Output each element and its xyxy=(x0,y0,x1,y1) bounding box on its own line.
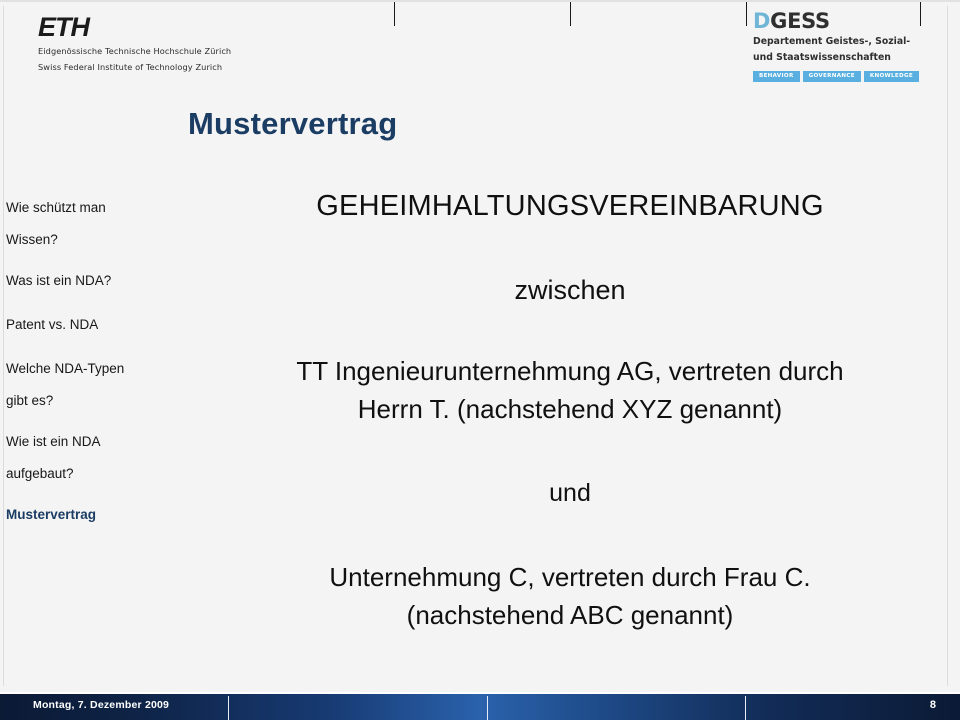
agenda-sidebar: Wie schützt man Wissen? Was ist ein NDA?… xyxy=(6,192,198,531)
top-edge-rule xyxy=(0,0,960,2)
left-margin-rule xyxy=(3,6,4,686)
contract-heading: GEHEIMHALTUNGSVEREINBARUNG xyxy=(200,185,940,227)
sidebar-item-label: Patent vs. NDA xyxy=(6,309,198,341)
contract-party-a-line-1: TT Ingenieurunternehmung AG, vertreten d… xyxy=(200,352,940,390)
slide-footer: Montag, 7. Dezember 2009 8 xyxy=(0,692,960,720)
contract-party-a: TT Ingenieurunternehmung AG, vertreten d… xyxy=(200,352,940,428)
footer-page-number: 8 xyxy=(930,699,936,711)
eth-logo: ETH Eidgenössische Technische Hochschule… xyxy=(38,14,231,73)
sidebar-item-welche-nda-typen[interactable]: Welche NDA-Typen gibt es? xyxy=(6,353,198,417)
contract-connector-und: und xyxy=(200,476,940,510)
contract-party-b: Unternehmung C, vertreten durch Frau C. … xyxy=(200,558,940,634)
sidebar-item-was-ist-ein-nda[interactable]: Was ist ein NDA? xyxy=(6,265,198,297)
sidebar-item-patent-vs-nda[interactable]: Patent vs. NDA xyxy=(6,309,198,341)
sidebar-item-label: Mustervertrag xyxy=(6,499,198,531)
slide-canvas: ETH Eidgenössische Technische Hochschule… xyxy=(0,0,960,720)
contract-party-b-line-2: (nachstehend ABC genannt) xyxy=(200,596,940,634)
sidebar-item-mustervertrag[interactable]: Mustervertrag xyxy=(6,499,198,531)
sidebar-item-label-cont: gibt es? xyxy=(6,385,198,417)
sidebar-item-label-cont: Wissen? xyxy=(6,224,198,256)
sidebar-item-label: Wie ist ein NDA xyxy=(6,426,198,458)
contract-party-b-line-1: Unternehmung C, vertreten durch Frau C. xyxy=(200,558,940,596)
sidebar-item-wie-schuetzt-man-wissen[interactable]: Wie schützt man Wissen? xyxy=(6,192,198,256)
sidebar-item-label: Welche NDA-Typen xyxy=(6,353,198,385)
footer-tick-mark-3 xyxy=(745,696,746,720)
eth-subtitle-de: Eidgenössische Technische Hochschule Zür… xyxy=(38,46,231,57)
footer-tick-mark-1 xyxy=(228,696,229,720)
dgess-badge-row: BEHAVIOR GOVERNANCE KNOWLEDGE xyxy=(753,71,919,82)
top-tick-mark-3 xyxy=(746,2,747,26)
top-tick-mark-4 xyxy=(920,2,921,26)
top-tick-mark-2 xyxy=(570,2,571,26)
dgess-logo: DGESS Departement Geistes-, Sozial- und … xyxy=(753,11,919,82)
contract-connector-zwischen: zwischen xyxy=(200,272,940,308)
sidebar-item-wie-ist-ein-nda-aufgebaut[interactable]: Wie ist ein NDA aufgebaut? xyxy=(6,426,198,490)
right-margin-rule xyxy=(947,6,948,686)
page-title: Mustervertrag xyxy=(188,106,397,142)
eth-subtitle-en: Swiss Federal Institute of Technology Zu… xyxy=(38,62,231,73)
footer-tick-mark-2 xyxy=(487,696,488,720)
top-tick-mark-1 xyxy=(394,2,395,26)
dgess-wordmark: DGESS xyxy=(753,11,919,32)
contract-body: GEHEIMHALTUNGSVEREINBARUNG zwischen TT I… xyxy=(200,185,940,634)
footer-date: Montag, 7. Dezember 2009 xyxy=(33,699,169,711)
badge-behavior: BEHAVIOR xyxy=(753,71,800,82)
badge-knowledge: KNOWLEDGE xyxy=(864,71,919,82)
dgess-subtitle-line-2: und Staatswissenschaften xyxy=(753,52,919,64)
dgess-letter-d: D xyxy=(753,9,770,33)
sidebar-item-label-cont: aufgebaut? xyxy=(6,458,198,490)
dgess-subtitle-line-1: Departement Geistes-, Sozial- xyxy=(753,36,919,48)
dgess-letters-gess: GESS xyxy=(770,9,830,33)
eth-wordmark: ETH xyxy=(38,14,231,41)
contract-party-a-line-2: Herrn T. (nachstehend XYZ genannt) xyxy=(200,390,940,428)
badge-governance: GOVERNANCE xyxy=(803,71,861,82)
sidebar-item-label: Wie schützt man xyxy=(6,192,198,224)
sidebar-item-label: Was ist ein NDA? xyxy=(6,265,198,297)
